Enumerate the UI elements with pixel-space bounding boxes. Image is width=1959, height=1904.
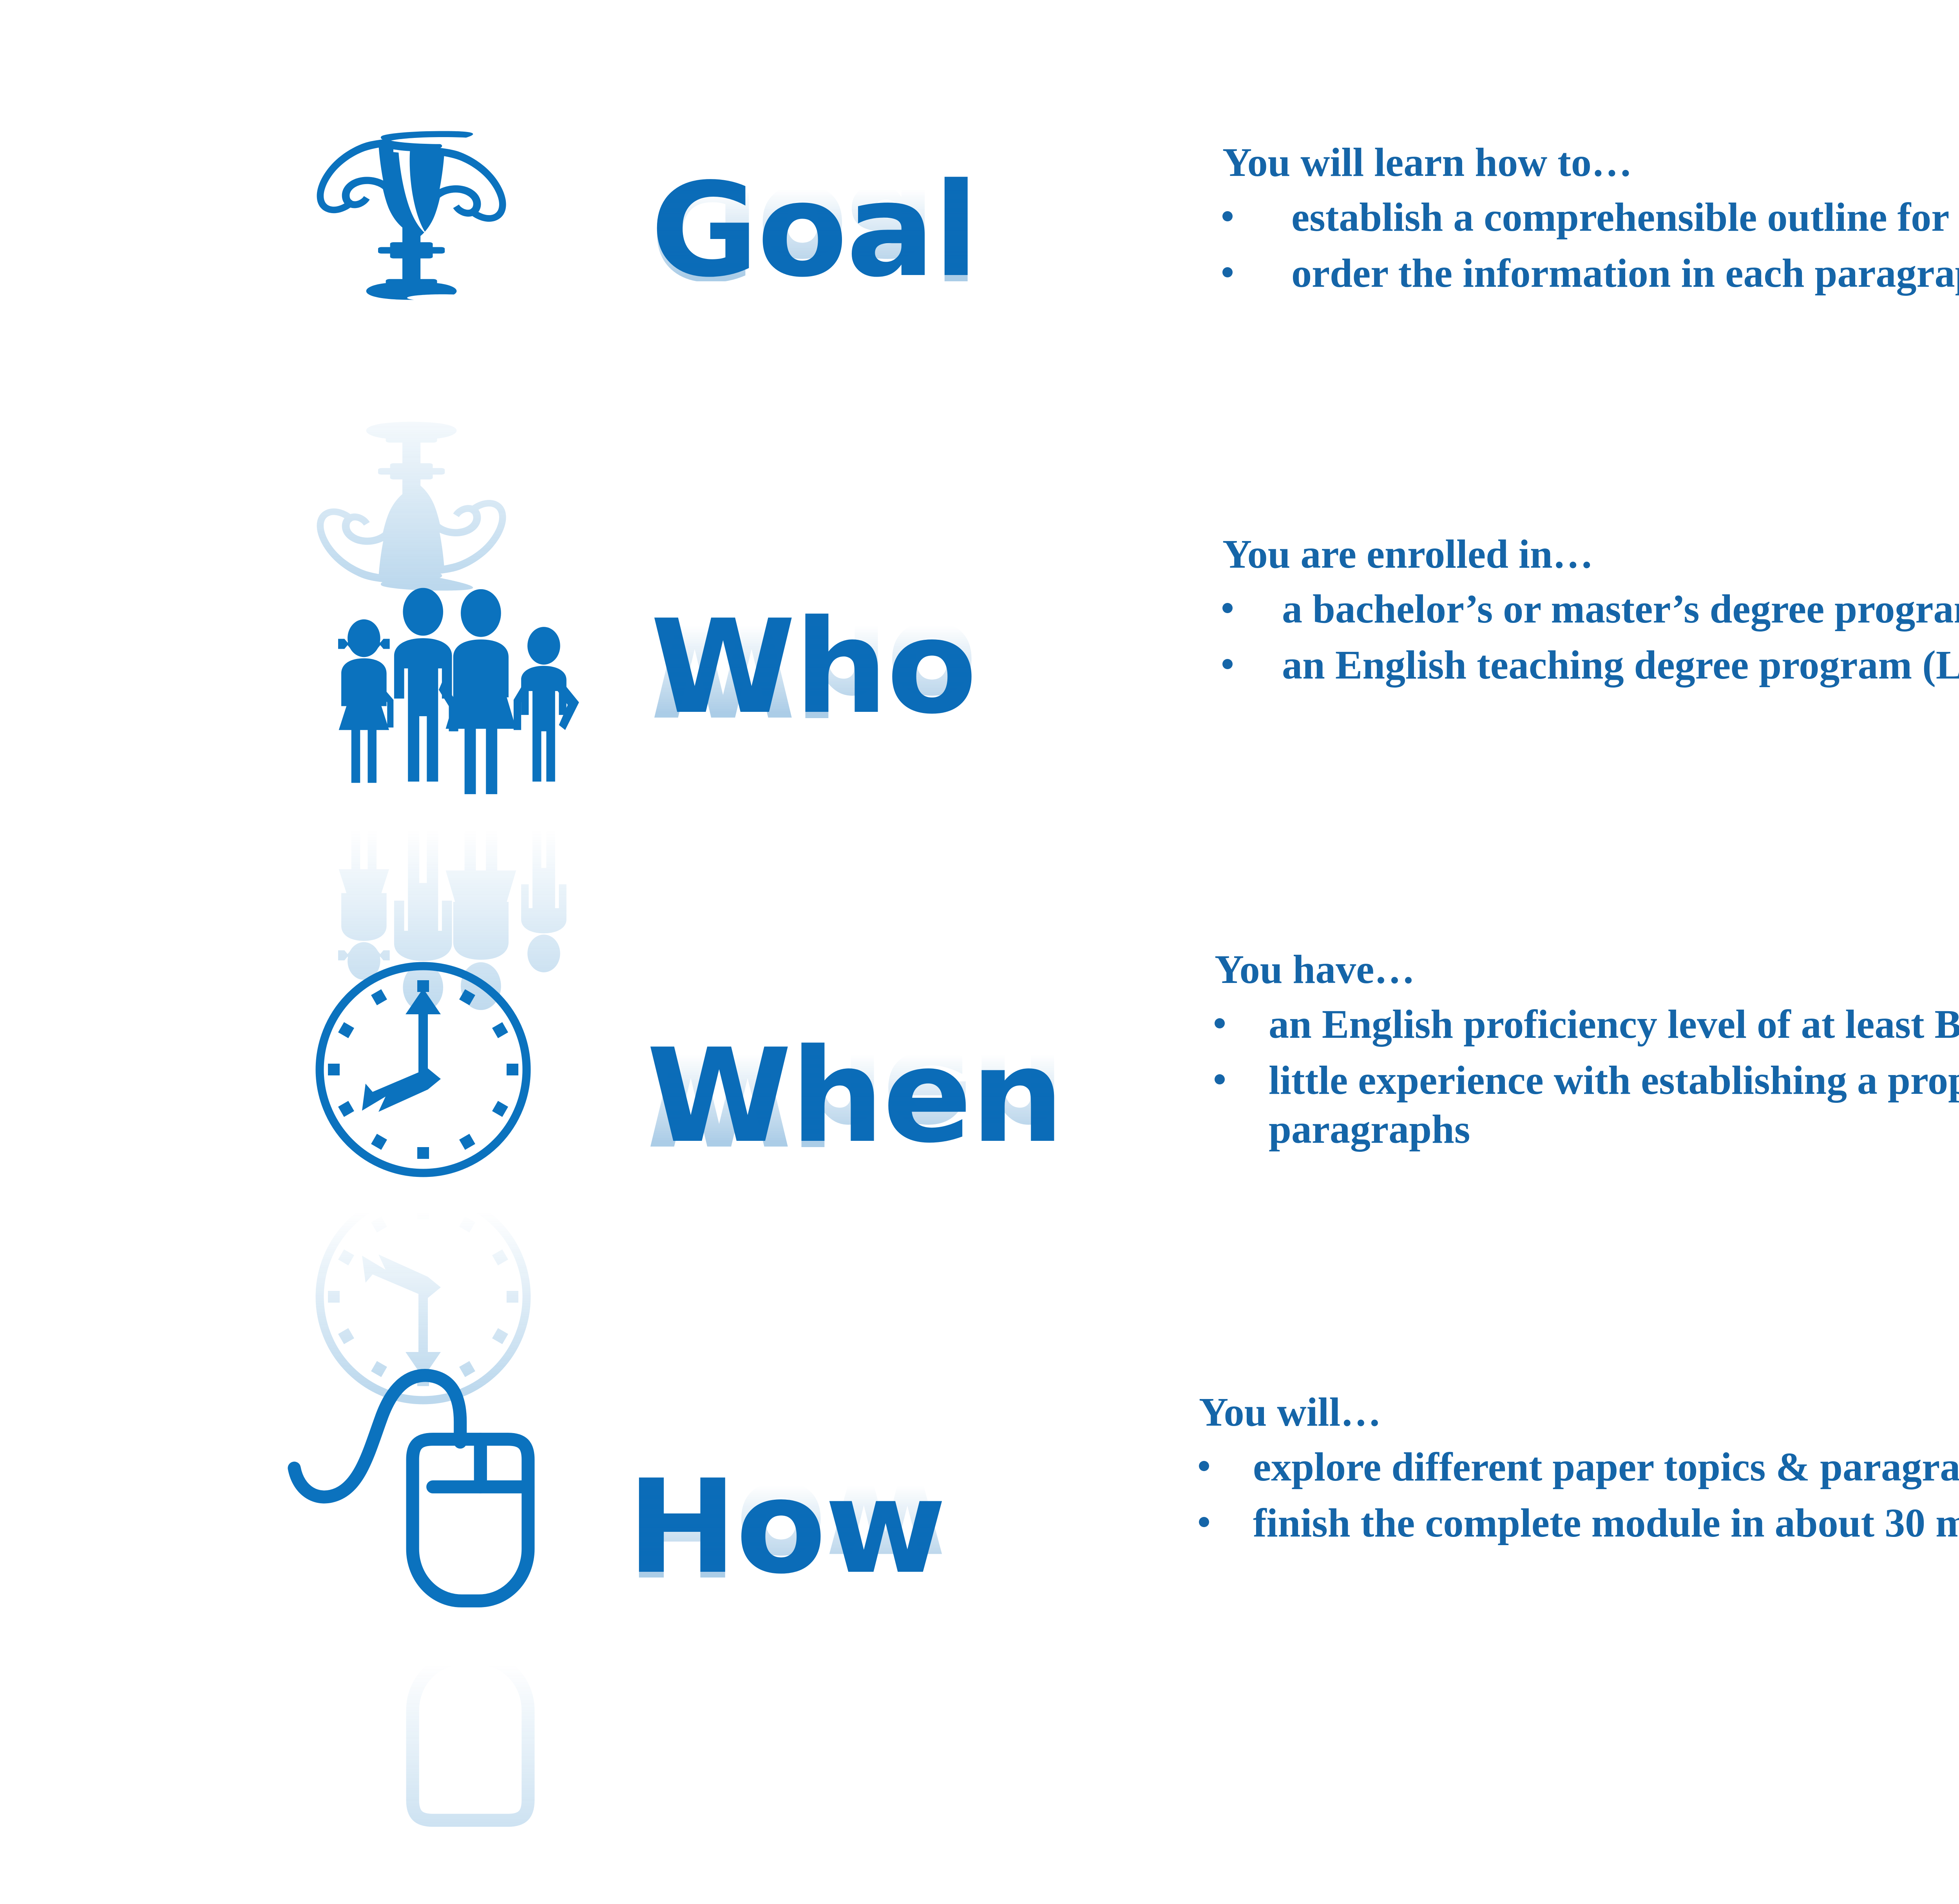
bullet-list-goal: establish a comprehensible outline for y… — [1222, 193, 1959, 298]
bullet-text: explore different paper topics & paragra… — [1253, 1443, 1959, 1492]
section-word-when: When — [646, 1046, 1063, 1147]
bullet-dot-icon — [1215, 1074, 1225, 1084]
bullet-dot-icon — [1222, 659, 1233, 669]
list-item: an English proficiency level of at least… — [1215, 1000, 1959, 1049]
bullet-dot-icon — [1222, 603, 1233, 613]
bullet-dot-icon — [1199, 1461, 1209, 1471]
slide-canvas: Goal Goal You will learn how to… establi… — [0, 0, 1959, 1763]
bullet-dot-icon — [1199, 1517, 1209, 1527]
list-item: explore different paper topics & paragra… — [1199, 1443, 1959, 1492]
bullet-text: finish the complete module in about 30 m… — [1253, 1499, 1959, 1548]
trophy-icon — [302, 118, 584, 360]
bullet-list-who: a bachelor’s or master’s degree program … — [1222, 585, 1959, 690]
lead-when: You have… — [1215, 948, 1959, 991]
bullet-text: a bachelor’s or master’s degree program … — [1282, 585, 1959, 634]
bullet-list-how: explore different paper topics & paragra… — [1199, 1443, 1959, 1548]
family-group-icon — [313, 560, 596, 799]
section-word-goal: Goal — [650, 180, 977, 281]
bullet-text: establish a comprehensible outline for y… — [1291, 193, 1959, 242]
list-item: a bachelor’s or master’s degree program … — [1222, 585, 1959, 634]
bullet-dot-icon — [1222, 211, 1233, 221]
lead-who: You are enrolled in… — [1222, 533, 1959, 576]
section-word-who: Who — [650, 617, 976, 718]
list-item: order the information in each paragraph … — [1222, 249, 1959, 298]
clock-icon — [306, 956, 541, 1183]
bullet-dot-icon — [1215, 1018, 1225, 1028]
bullet-text: little experience with establishing a pr… — [1269, 1056, 1959, 1154]
bullet-list-when: an English proficiency level of at least… — [1215, 1000, 1959, 1154]
lead-goal: You will learn how to… — [1222, 141, 1959, 184]
bullet-dot-icon — [1222, 267, 1233, 277]
lead-how: You will… — [1199, 1391, 1959, 1433]
list-item: an English teaching degree program (L1, … — [1222, 641, 1959, 690]
computer-mouse-icon-reflection — [282, 1630, 572, 1904]
section-word-how: How — [627, 1477, 945, 1578]
list-item: establish a comprehensible outline for y… — [1222, 193, 1959, 242]
bullet-text: order the information in each paragraph … — [1291, 249, 1959, 298]
list-item: finish the complete module in about 30 m… — [1199, 1499, 1959, 1548]
bullet-text: an English proficiency level of at least… — [1269, 1000, 1959, 1049]
bullet-text: an English teaching degree program (L1, … — [1282, 641, 1959, 690]
list-item: little experience with establishing a pr… — [1215, 1056, 1959, 1154]
computer-mouse-icon — [282, 1356, 572, 1630]
